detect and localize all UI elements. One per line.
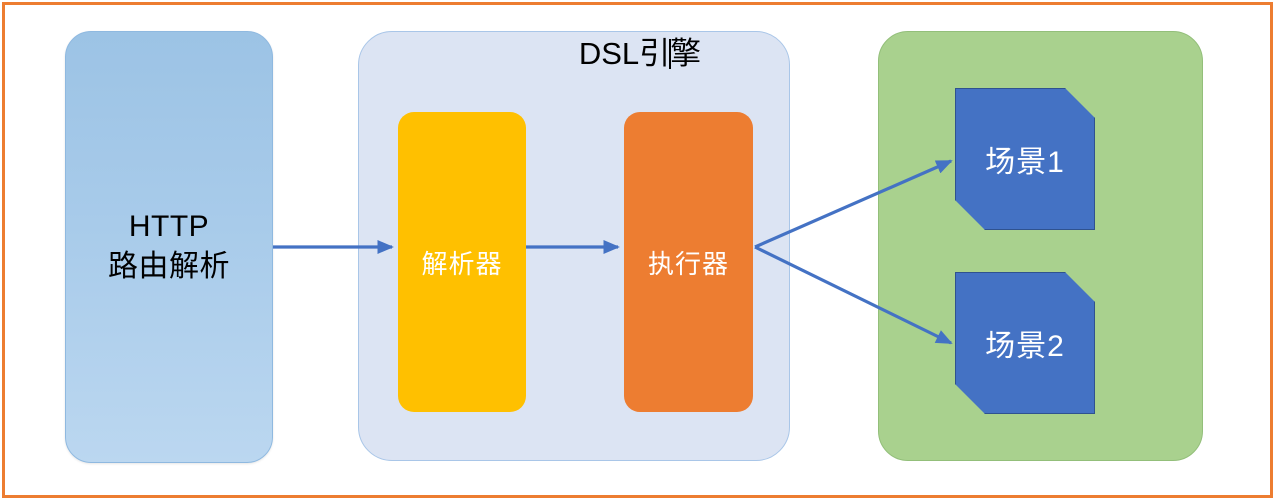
scene-2-box[interactable]: 场景2 [955, 272, 1095, 414]
scene-1-label: 场景1 [985, 137, 1065, 181]
executor-box[interactable]: 执行器 [624, 112, 753, 412]
scene-2-label: 场景2 [985, 321, 1065, 365]
dsl-engine-title-prefix: DSL引 [579, 36, 670, 71]
executor-label: 执行器 [648, 244, 729, 281]
http-router-label: HTTP 路由解析 [108, 207, 230, 287]
http-router-box[interactable]: HTTP 路由解析 [65, 31, 273, 463]
scene-1-box[interactable]: 场景1 [955, 88, 1095, 230]
parser-box[interactable]: 解析器 [398, 112, 526, 412]
diagram-canvas: HTTP 路由解析 DSL引擎 解析器 执行器 场景1 场景2 [0, 0, 1280, 503]
dsl-engine-title-suffix: 擎 [670, 36, 701, 71]
parser-label: 解析器 [421, 244, 502, 281]
